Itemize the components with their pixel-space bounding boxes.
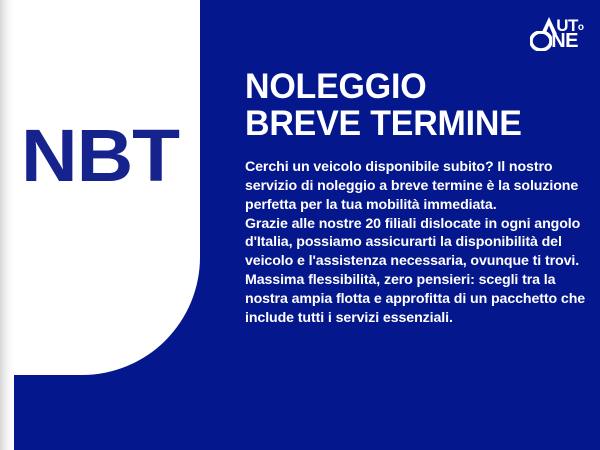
- paragraph-2: Grazie alle nostre 20 filiali dislocate …: [245, 215, 590, 272]
- auto-one-logo[interactable]: UT o NE: [530, 17, 584, 51]
- paragraph-1: Cerchi un veicolo disponibile subito? Il…: [245, 158, 590, 215]
- paragraph-3: Massima flessibilità, zero pensieri: sce…: [245, 271, 590, 328]
- nbt-brand-mark: NBT: [0, 119, 206, 193]
- promo-banner: NBT UT o NE NOLEGGIO BREVE TERMINE Cerch…: [0, 0, 600, 450]
- logo-o-ring-icon: [530, 31, 552, 51]
- body-copy: Cerchi un veicolo disponibile subito? Il…: [245, 158, 590, 328]
- logo-ne-text: NE: [551, 31, 578, 51]
- logo-line-one: NE: [530, 31, 584, 51]
- content-column: NOLEGGIO BREVE TERMINE Cerchi un veicolo…: [245, 68, 590, 328]
- left-edge-shadow: [0, 0, 14, 450]
- headline: NOLEGGIO BREVE TERMINE: [245, 68, 580, 143]
- logo-o-small-text: o: [578, 23, 584, 33]
